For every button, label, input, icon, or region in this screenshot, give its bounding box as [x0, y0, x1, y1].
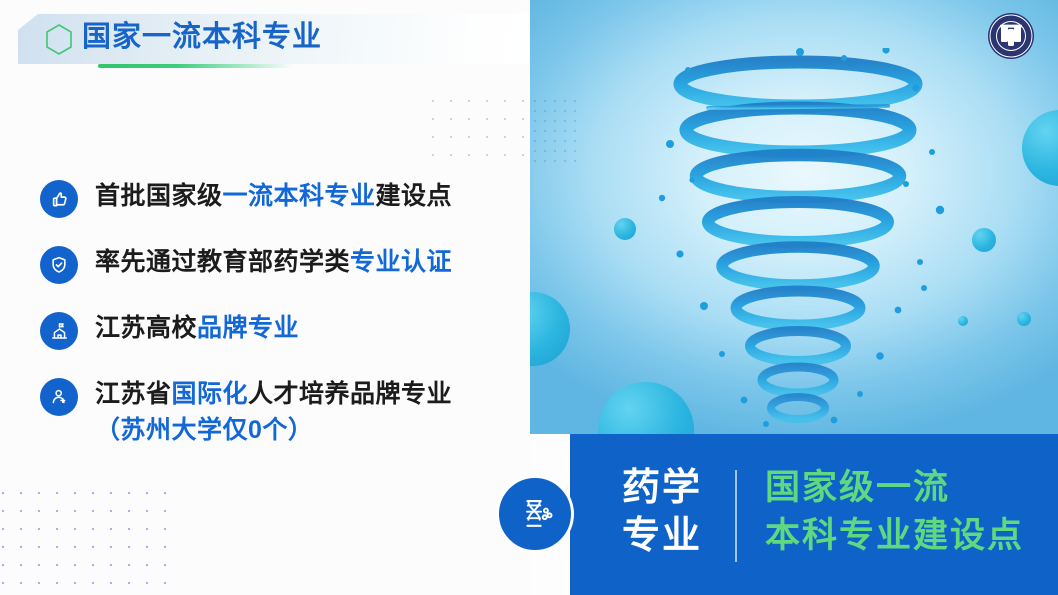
text-segment: 江苏省 — [95, 380, 172, 408]
thumbs-up-icon — [40, 180, 78, 218]
list-item[interactable]: 江苏高校品牌专业 — [40, 310, 510, 350]
list-item-subtext: （苏州大学仅0个） — [95, 412, 452, 448]
decorative-sphere — [614, 218, 636, 240]
decorative-dot-grid-image — [530, 96, 582, 164]
list-item-text: 率先通过教育部药学类专业认证 — [95, 244, 452, 280]
decorative-sphere — [972, 228, 996, 252]
left-content-panel: 国家一流本科专业 首批国家级一流本科专业建设点 — [0, 0, 530, 595]
school-building-icon — [40, 312, 78, 350]
list-item-text: 江苏省国际化人才培养品牌专业 （苏州大学仅0个） — [95, 376, 452, 448]
text-segment-highlight: 国际化 — [172, 380, 249, 408]
text-segment-highlight: 专业认证 — [350, 248, 452, 276]
text-segment: 江苏高校 — [95, 314, 197, 342]
dna-illustration-panel — [530, 0, 1058, 434]
decorative-sphere — [530, 292, 570, 366]
text-segment-highlight: 品牌专业 — [197, 314, 299, 342]
banner-divider — [735, 470, 737, 562]
text-segment: 率先通过教育部药学类 — [95, 248, 350, 276]
list-item-text: 首批国家级一流本科专业建设点 — [95, 178, 452, 214]
decorative-dot-grid-top — [424, 92, 530, 164]
text-segment: 建设点 — [376, 182, 453, 210]
banner-major-line2: 专业 — [622, 512, 702, 560]
banner-major-line1: 药学 — [622, 464, 702, 512]
decorative-sphere — [958, 316, 968, 326]
hexagon-outline-icon — [44, 23, 74, 56]
list-item[interactable]: 首批国家级一流本科专业建设点 — [40, 178, 510, 218]
dna-double-helix-graphic — [648, 48, 948, 434]
text-segment-highlight: 一流本科专业 — [223, 182, 376, 210]
decorative-sphere — [1022, 110, 1058, 186]
banner-major-name: 药学 专业 — [622, 464, 702, 560]
banner-honor-line2: 本科专业建设点 — [765, 512, 1024, 560]
banner-notch — [530, 434, 570, 595]
shield-check-icon — [40, 246, 78, 284]
text-segment: 首批国家级 — [95, 182, 223, 210]
decorative-sphere — [1017, 312, 1031, 326]
feature-list: 首批国家级一流本科专业建设点 率先通过教育部药学类专业认证 — [40, 178, 510, 474]
banner-honor-line1: 国家级一流 — [765, 464, 1024, 512]
bottom-banner: 药学 专业 国家级一流 本科专业建设点 — [530, 434, 1058, 595]
university-seal-logo — [987, 12, 1035, 60]
user-add-icon — [40, 378, 78, 416]
dna-molecule-icon — [496, 475, 574, 553]
text-segment: 人才培养品牌专业 — [248, 380, 452, 408]
list-item[interactable]: 率先通过教育部药学类专业认证 — [40, 244, 510, 284]
list-item-text: 江苏高校品牌专业 — [95, 310, 299, 346]
decorative-dot-grid-bottom — [0, 484, 166, 595]
list-item[interactable]: 江苏省国际化人才培养品牌专业 （苏州大学仅0个） — [40, 376, 510, 448]
title-underline — [98, 64, 294, 68]
page-title: 国家一流本科专业 — [82, 19, 322, 55]
banner-honor-text: 国家级一流 本科专业建设点 — [765, 464, 1024, 560]
slide-root: 国家一流本科专业 首批国家级一流本科专业建设点 — [0, 0, 1058, 595]
